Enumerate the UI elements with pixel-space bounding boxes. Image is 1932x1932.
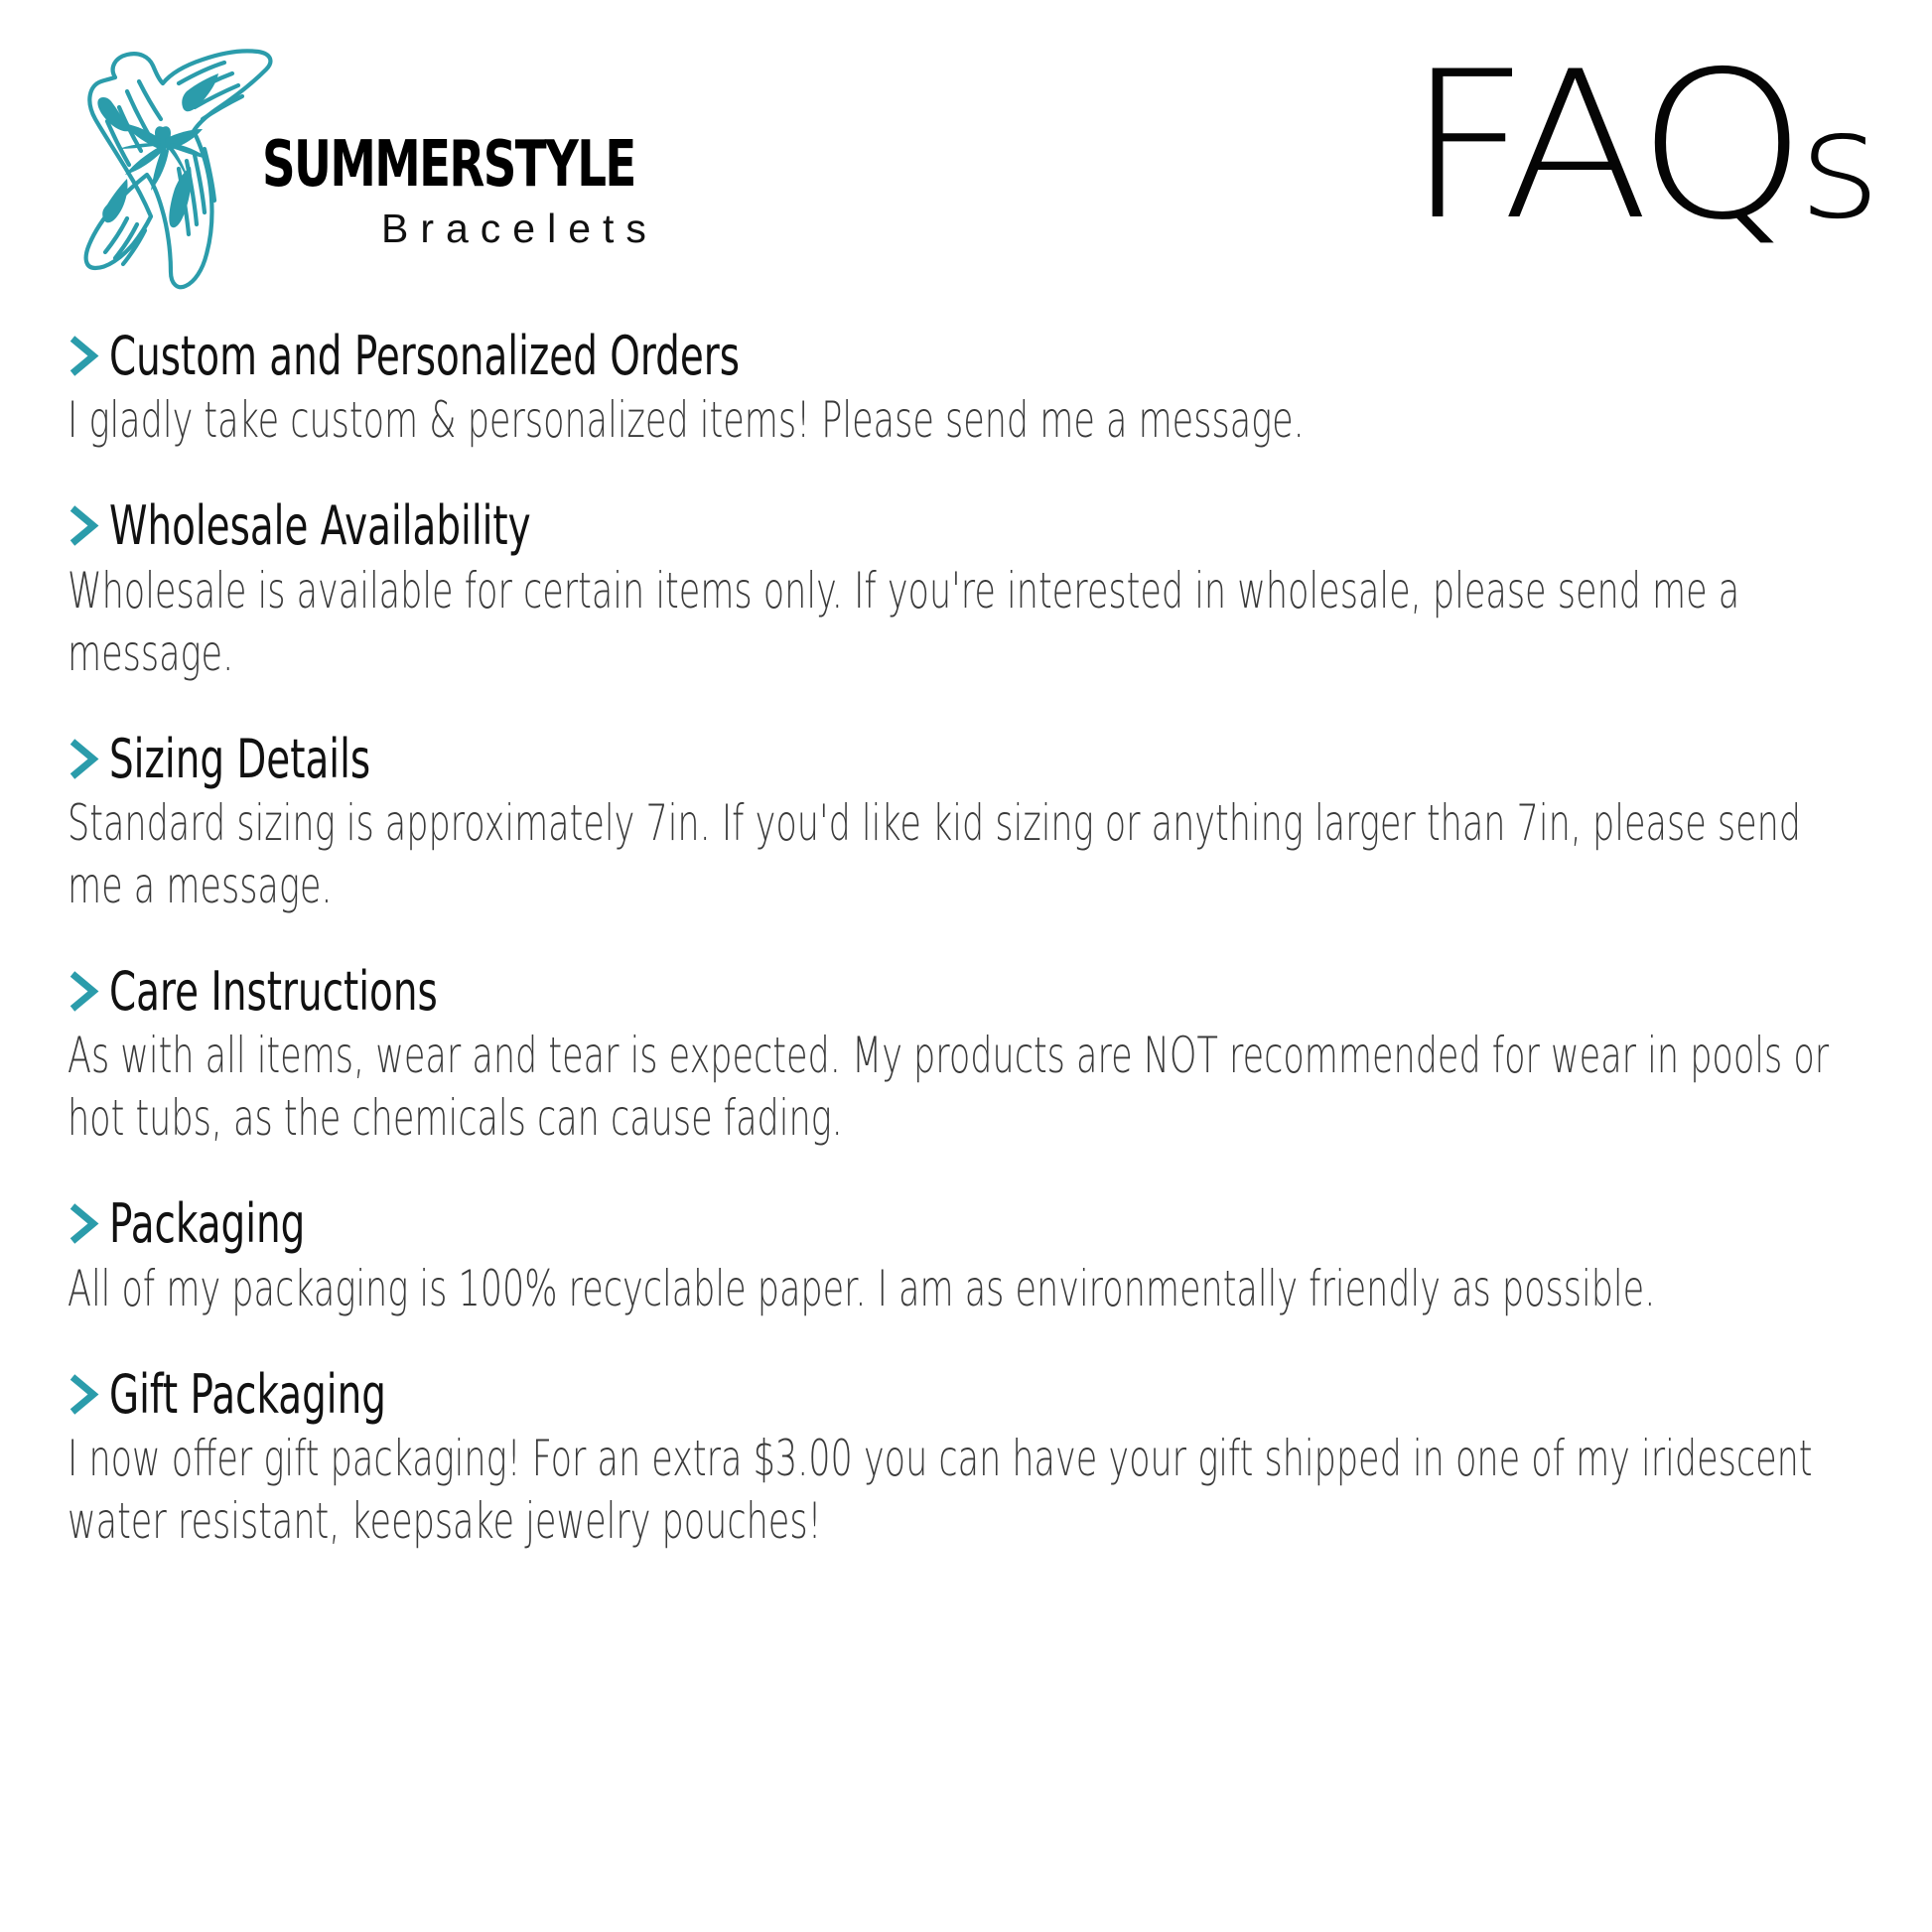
faq-answer: I now offer gift packaging! For an extra… xyxy=(68,1428,1861,1553)
faq-answer: Wholesale is available for certain items… xyxy=(68,560,1861,685)
brand-logo: SummerStyle Bracelets xyxy=(68,22,822,310)
faq-question-row[interactable]: Packaging xyxy=(68,1195,1864,1253)
brand-wordmark: SummerStyle Bracelets xyxy=(262,113,818,252)
faq-question: Custom and Personalized Orders xyxy=(109,328,740,385)
chevron-right-icon xyxy=(68,970,99,1014)
page-title-upper: FAQ xyxy=(1406,29,1798,265)
chevron-right-icon xyxy=(68,1373,99,1417)
faq-item: PackagingAll of my packaging is 100% rec… xyxy=(68,1195,1864,1319)
wordmark-primary: SummerStyle xyxy=(262,113,718,197)
faq-question: Wholesale Availability xyxy=(109,497,531,555)
faq-question-row[interactable]: Gift Packaging xyxy=(68,1366,1864,1424)
chevron-right-icon xyxy=(68,738,99,781)
faq-list: Custom and Personalized OrdersI gladly t… xyxy=(68,328,1864,1598)
page-header: SummerStyle Bracelets FAQs xyxy=(0,0,1932,316)
faq-question-row[interactable]: Custom and Personalized Orders xyxy=(68,328,1864,385)
faq-item: Custom and Personalized OrdersI gladly t… xyxy=(68,328,1864,452)
faq-answer: All of my packaging is 100% recyclable p… xyxy=(68,1258,1861,1320)
faq-item: Sizing DetailsStandard sizing is approxi… xyxy=(68,731,1864,917)
faq-question: Packaging xyxy=(109,1195,305,1253)
chevron-right-icon xyxy=(68,335,99,378)
wordmark-secondary: Bracelets xyxy=(381,206,818,252)
faq-question-row[interactable]: Wholesale Availability xyxy=(68,497,1864,555)
faq-question-row[interactable]: Sizing Details xyxy=(68,731,1864,788)
faq-question-row[interactable]: Care Instructions xyxy=(68,963,1864,1021)
faq-answer: Standard sizing is approximately 7in. If… xyxy=(68,792,1861,917)
chevron-right-icon xyxy=(68,1202,99,1246)
faq-item: Gift PackagingI now offer gift packaging… xyxy=(68,1366,1864,1553)
page-title: FAQs xyxy=(1406,46,1876,249)
faq-question: Sizing Details xyxy=(109,731,370,788)
faq-answer: I gladly take custom & personalized item… xyxy=(68,389,1861,452)
faq-question: Care Instructions xyxy=(109,963,438,1021)
faq-question: Gift Packaging xyxy=(109,1366,386,1424)
starfish-icon xyxy=(68,22,276,310)
faq-item: Wholesale AvailabilityWholesale is avail… xyxy=(68,497,1864,684)
chevron-right-icon xyxy=(68,504,99,548)
faq-item: Care InstructionsAs with all items, wear… xyxy=(68,963,1864,1150)
page-title-lower: s xyxy=(1798,79,1876,252)
faq-answer: As with all items, wear and tear is expe… xyxy=(68,1025,1861,1150)
